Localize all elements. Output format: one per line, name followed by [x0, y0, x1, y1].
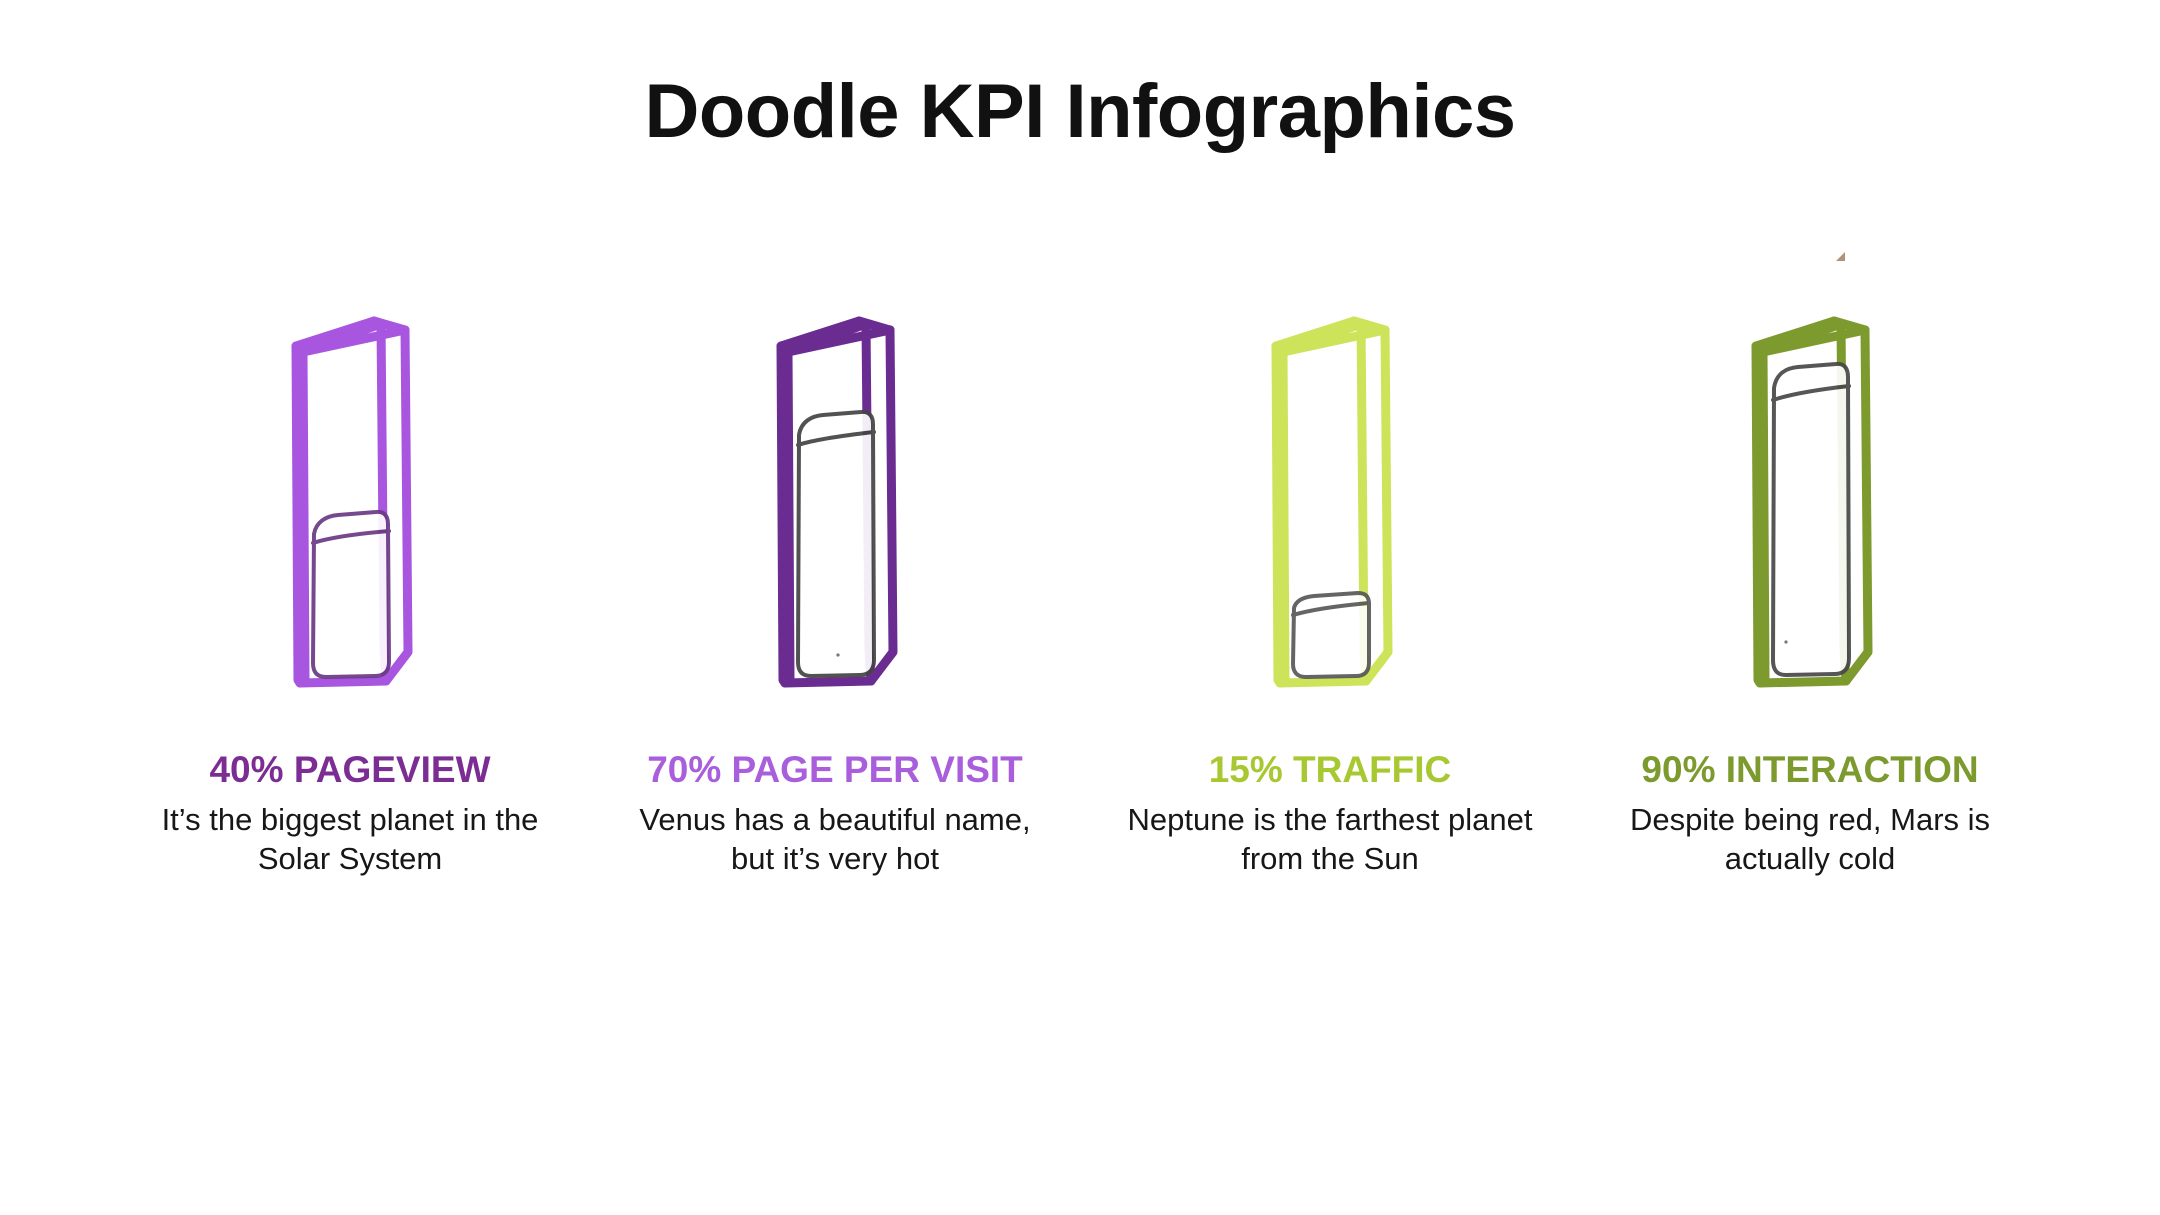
doodle-bar-pageview — [140, 300, 560, 710]
kpi-heading-page-per-visit: 70% PAGE PER VISIT — [625, 748, 1045, 792]
doodle-bar-interaction — [1600, 300, 2020, 710]
kpi-heading-pageview: 40% PAGEVIEW — [140, 748, 560, 792]
fill-level-interaction — [1773, 364, 1849, 675]
kpi-heading-traffic: 15% TRAFFIC — [1120, 748, 1540, 792]
text-block-page-per-visit: 70% PAGE PER VISIT Venus has a beautiful… — [625, 748, 1045, 879]
text-block-interaction: 90% INTERACTION Despite being red, Mars … — [1600, 748, 2020, 879]
doodle-bar-page-per-visit — [625, 300, 1045, 710]
doodle-bar-traffic — [1120, 300, 1540, 710]
fill-level-pageview — [313, 512, 389, 677]
text-block-pageview: 40% PAGEVIEW It’s the biggest planet in … — [140, 748, 560, 879]
stray-pencil-mark-icon — [1836, 252, 1845, 261]
fill-level-page-per-visit — [798, 412, 874, 676]
page-title: Doodle KPI Infographics — [0, 72, 2160, 152]
kpi-heading-interaction: 90% INTERACTION — [1600, 748, 2020, 792]
text-block-traffic: 15% TRAFFIC Neptune is the farthest plan… — [1120, 748, 1540, 879]
fill-level-traffic — [1293, 593, 1369, 677]
